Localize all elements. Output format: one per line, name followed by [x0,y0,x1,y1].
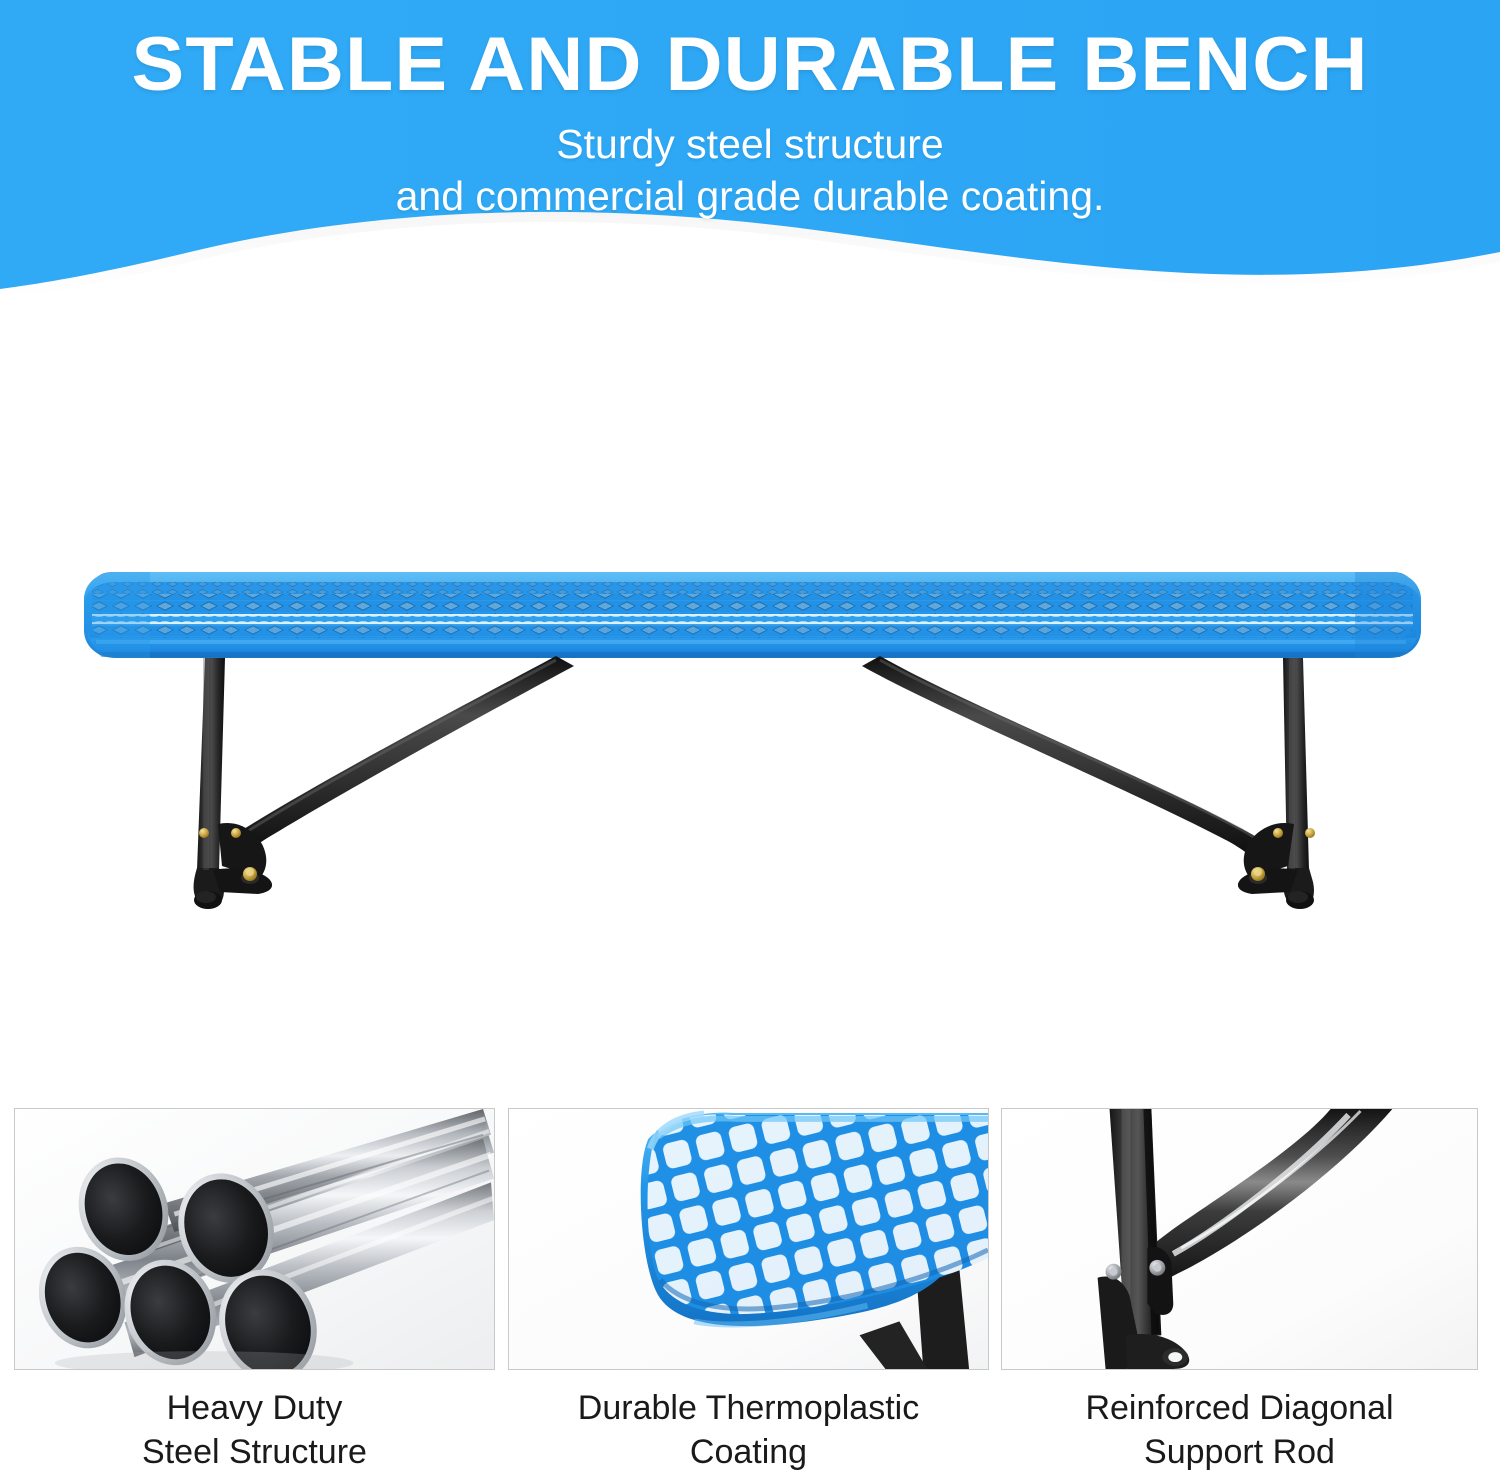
feature-caption-thermoplastic-coating: Durable Thermoplastic Coating [508,1386,989,1479]
banner-text-block: STABLE AND DURABLE BENCH Sturdy steel st… [0,0,1500,250]
mesh-seat-closeup-icon [509,1109,988,1369]
support-rod-closeup-icon [1002,1109,1477,1369]
bench-illustration [0,300,1500,1090]
feature-caption-support-rod: Reinforced Diagonal Support Rod [1001,1386,1478,1479]
caption-line-1: Heavy Duty [14,1386,495,1430]
feature-image-thermoplastic-coating [508,1108,989,1370]
page-title: STABLE AND DURABLE BENCH [0,22,1500,108]
header-banner: STABLE AND DURABLE BENCH Sturdy steel st… [0,0,1500,300]
caption-line-2: Support Rod [1001,1430,1478,1474]
feature-image-steel-tubes [14,1108,495,1370]
hero-product-image [0,300,1500,1090]
feature-image-support-rod [1001,1108,1478,1370]
caption-line-2: Coating [508,1430,989,1474]
bench-leg-right [862,656,1315,909]
caption-line-2: Steel Structure [14,1430,495,1474]
feature-caption-row: Heavy Duty Steel Structure Durable Therm… [0,1386,1500,1479]
feature-caption-steel-structure: Heavy Duty Steel Structure [14,1386,495,1479]
steel-tubes-icon [15,1109,494,1369]
feature-panel-row [0,1100,1500,1385]
bench-seat [84,570,1424,658]
caption-line-1: Durable Thermoplastic [508,1386,989,1430]
caption-line-1: Reinforced Diagonal [1001,1386,1478,1430]
bench-leg-left [194,656,574,909]
banner-subtitle-line-1: Sturdy steel structure [0,118,1500,170]
banner-subtitle-line-2: and commercial grade durable coating. [0,170,1500,222]
banner-subtitle: Sturdy steel structure and commercial gr… [0,118,1500,222]
